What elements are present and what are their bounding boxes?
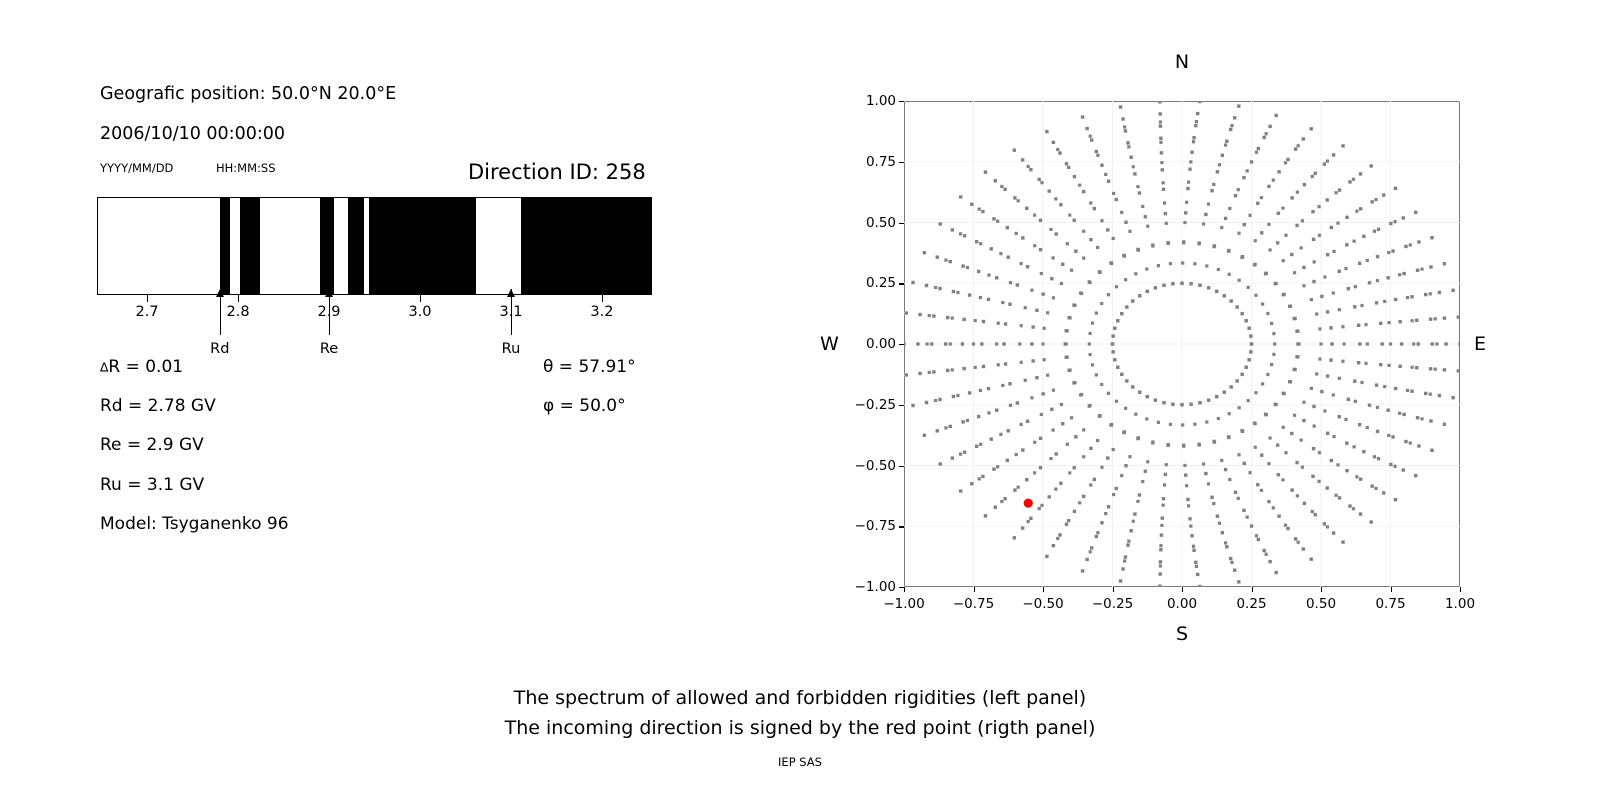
polar-y-tick-label: 0.00: [866, 336, 896, 352]
polar-x-tick: [1113, 587, 1114, 592]
polar-y-tick-label: 0.50: [866, 215, 896, 231]
param-re: Re = 2.9 GV: [100, 435, 204, 455]
axis-tick: [147, 295, 148, 302]
polar-y-tick: [899, 466, 904, 467]
forbidden-band: [369, 198, 476, 294]
date-format-hint: YYYY/MM/DD: [100, 161, 173, 175]
param-model: Model: Tsyganenko 96: [100, 514, 289, 534]
spectrum-bar: [97, 197, 652, 295]
spectrum-axis: 2.72.82.93.03.13.2RdReRu: [97, 295, 652, 355]
polar-scatter-svg: [904, 101, 1460, 587]
compass-label-west: W: [820, 333, 839, 355]
axis-tick: [602, 295, 603, 302]
axis-tick-label: 3.2: [590, 304, 613, 320]
polar-x-tick: [1182, 587, 1183, 592]
axis-tick: [238, 295, 239, 302]
polar-x-tick: [1043, 587, 1044, 592]
compass-label-south: S: [1176, 623, 1188, 645]
polar-y-tick-label: 1.00: [866, 93, 896, 109]
polar-x-tick: [1321, 587, 1322, 592]
polar-y-tick: [899, 101, 904, 102]
forbidden-band: [220, 198, 230, 294]
polar-x-tick-label: 0.50: [1306, 596, 1336, 612]
rigidity-marker-label-re: Re: [320, 341, 338, 357]
param-theta: θ = 57.91°: [543, 357, 636, 377]
caption-line-1: The spectrum of allowed and forbidden ri…: [514, 687, 1086, 709]
polar-x-tick: [1460, 587, 1461, 592]
polar-x-tick-label: −0.75: [953, 596, 994, 612]
polar-x-tick: [1391, 587, 1392, 592]
rigidity-marker-re: [329, 289, 330, 335]
polar-x-tick: [974, 587, 975, 592]
footer-attribution: IEP SAS: [778, 755, 822, 769]
incoming-direction-point: [1024, 499, 1033, 508]
polar-x-tick-label: 0.00: [1167, 596, 1197, 612]
polar-y-tick: [899, 162, 904, 163]
param-phi: φ = 50.0°: [543, 396, 626, 416]
rigidity-marker-label-ru: Ru: [502, 341, 521, 357]
polar-y-tick-label: −0.75: [855, 518, 896, 534]
polar-x-tick-label: 0.75: [1375, 596, 1405, 612]
polar-y-tick-label: 0.75: [866, 154, 896, 170]
geographic-position-text: Geografic position: 50.0°N 20.0°E: [100, 84, 396, 104]
param-rd: Rd = 2.78 GV: [100, 396, 216, 416]
caption-line-2: The incoming direction is signed by the …: [505, 717, 1096, 739]
forbidden-band: [240, 198, 260, 294]
forbidden-band: [320, 198, 334, 294]
direction-id-text: Direction ID: 258: [468, 160, 646, 184]
polar-y-tick: [899, 405, 904, 406]
asymptotic-direction-chart: N S W E −1.00−0.75−0.50−0.250.000.250.50…: [904, 101, 1460, 587]
polar-x-tick-label: −1.00: [883, 596, 924, 612]
axis-tick-label: 2.8: [226, 304, 249, 320]
param-ru: Ru = 3.1 GV: [100, 475, 204, 495]
rigidity-marker-label-rd: Rd: [210, 341, 229, 357]
polar-x-tick-label: 1.00: [1445, 596, 1475, 612]
forbidden-band: [521, 198, 652, 294]
polar-x-tick-label: −0.25: [1092, 596, 1133, 612]
compass-label-east: E: [1474, 333, 1486, 355]
polar-x-tick: [1252, 587, 1253, 592]
rigidity-spectrum-chart: 2.72.82.93.03.13.2RdReRu: [97, 197, 652, 295]
compass-label-north: N: [1175, 51, 1189, 73]
rigidity-marker-rd: [220, 289, 221, 335]
polar-y-tick: [899, 283, 904, 284]
polar-x-tick: [904, 587, 905, 592]
polar-y-tick-label: −0.50: [855, 458, 896, 474]
polar-x-tick-label: −0.50: [1022, 596, 1063, 612]
polar-y-tick-label: −0.25: [855, 397, 896, 413]
rigidity-marker-ru: [511, 289, 512, 335]
datetime-text: 2006/10/10 00:00:00: [100, 124, 285, 144]
time-format-hint: HH:MM:SS: [216, 161, 276, 175]
param-delta-r: ∆R = 0.01: [100, 357, 183, 377]
polar-y-tick-label: −1.00: [855, 579, 896, 595]
axis-tick-label: 3.0: [408, 304, 431, 320]
forbidden-band: [348, 198, 363, 294]
polar-y-tick: [899, 526, 904, 527]
polar-y-tick: [899, 223, 904, 224]
polar-y-tick: [899, 344, 904, 345]
axis-tick-label: 2.7: [136, 304, 159, 320]
polar-y-tick-label: 0.25: [866, 275, 896, 291]
polar-x-tick-label: 0.25: [1236, 596, 1266, 612]
axis-tick: [420, 295, 421, 302]
